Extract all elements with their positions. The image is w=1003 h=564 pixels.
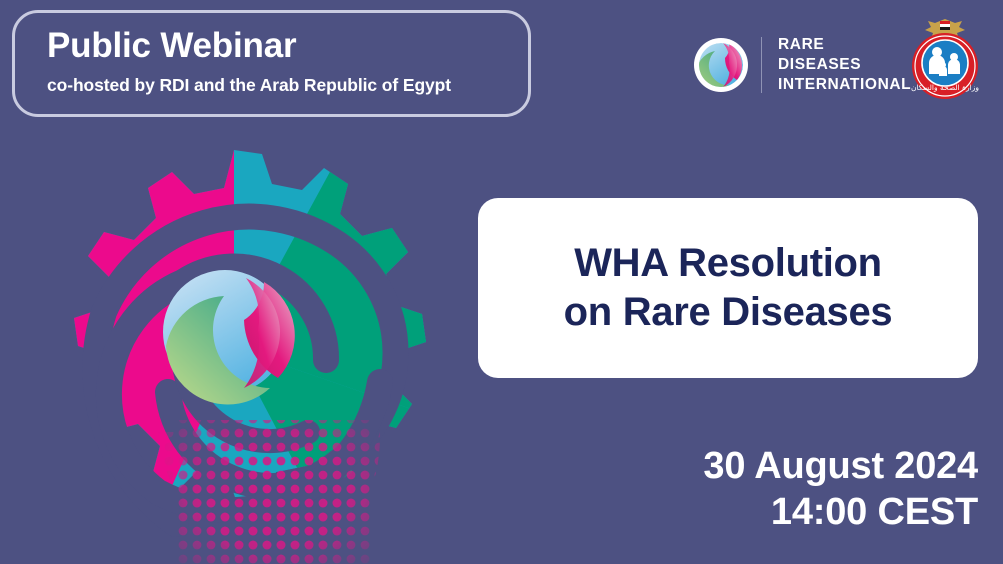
event-time: 14:00 CEST xyxy=(703,489,978,535)
webinar-poster: Public Webinar co-hosted by RDI and the … xyxy=(0,0,1003,564)
egypt-ministry-of-health-emblem-icon: وزارة الصحة والسكان xyxy=(903,16,987,102)
rdi-word-line-2: DISEASES xyxy=(778,55,911,75)
title-line-1: WHA Resolution xyxy=(574,239,882,288)
emblem-arabic-caption: وزارة الصحة والسكان xyxy=(911,83,979,92)
rdi-wordmark: RARE DISEASES INTERNATIONAL xyxy=(778,35,911,94)
title-card: WHA Resolution on Rare Diseases xyxy=(478,198,978,378)
rdi-word-line-3: INTERNATIONAL xyxy=(778,75,911,95)
header-badge: Public Webinar co-hosted by RDI and the … xyxy=(12,10,531,117)
rdi-word-line-1: RARE xyxy=(778,35,911,55)
rdi-logo-lockup: RARE DISEASES INTERNATIONAL xyxy=(693,32,911,98)
page-subtitle: co-hosted by RDI and the Arab Republic o… xyxy=(47,75,528,95)
rare-diseases-gear-swirl-graphic xyxy=(8,132,460,564)
logo-divider xyxy=(761,37,762,93)
event-datetime: 30 August 2024 14:00 CEST xyxy=(703,443,978,536)
rdi-swirl-logo-icon xyxy=(693,37,749,93)
event-date: 30 August 2024 xyxy=(703,443,978,489)
title-line-2: on Rare Diseases xyxy=(564,288,893,337)
page-title: Public Webinar xyxy=(47,27,528,66)
